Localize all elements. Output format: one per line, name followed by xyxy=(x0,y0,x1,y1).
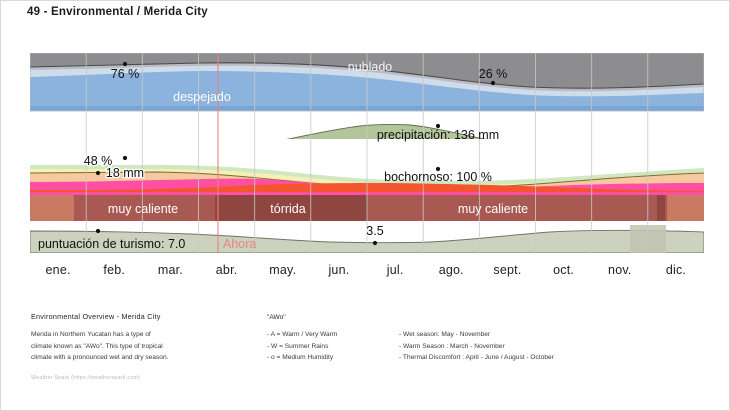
season-item-warm: - Warm Season : March - November xyxy=(399,341,554,353)
month-tick-mar: mar. xyxy=(142,263,198,285)
label-precip-left: 18 mm xyxy=(106,166,144,180)
label-nublado: nublado xyxy=(348,60,393,74)
season-item-thermal: - Thermal Discomfort : April - June / Au… xyxy=(399,352,554,364)
climate-code-item-a: - A = Warm / Very Warm xyxy=(267,329,337,341)
label-cloud-right: 26 % xyxy=(479,67,508,81)
month-tick-nov: nov. xyxy=(592,263,648,285)
label-temp-right: muy caliente xyxy=(458,202,528,216)
label-humidity-peak: bochornoso: 100 % xyxy=(384,170,492,184)
temp-hot-band-right xyxy=(667,195,704,221)
label-tourism-left: puntuación de turismo: 7.0 xyxy=(38,237,185,251)
climate-code-title: "AWo" xyxy=(267,312,286,324)
climate-code-item-w: - W = Summer Rains xyxy=(267,341,337,353)
screenshot-frame: 49 - Environmental / Merida City xyxy=(0,0,730,411)
label-temp-left: muy caliente xyxy=(108,202,178,216)
label-now-marker: Ahora xyxy=(223,237,256,251)
month-tick-ago: ago. xyxy=(423,263,479,285)
month-tick-oct: oct. xyxy=(536,263,592,285)
climate-code-list: - A = Warm / Very Warm - W = Summer Rain… xyxy=(267,329,337,364)
overview-title: Environmental Overview - Merida City xyxy=(31,311,161,324)
month-tick-dic: dic. xyxy=(648,263,704,285)
label-tourism-low: 3.5 xyxy=(366,224,383,238)
label-cloud-left: 76 % xyxy=(111,67,140,81)
marker-cloud-left xyxy=(123,62,127,66)
climate-code-item-o: - o = Medium Humidity xyxy=(267,352,337,364)
overview-body-line-3: climate with a pronounced wet and dry se… xyxy=(31,352,246,364)
environmental-chart: 76 % 26 % nublado despejado 18 mm precip… xyxy=(30,53,704,253)
chart-svg: 76 % 26 % nublado despejado 18 mm precip… xyxy=(30,53,704,253)
overview-body: Merida in Northern Yucatan has a type of… xyxy=(31,329,246,364)
overview-body-line-2: climate known as "AWo". This type of tro… xyxy=(31,341,246,353)
month-tick-abr: abr. xyxy=(199,263,255,285)
season-summary-list: - Wet season: May - November - Warm Seas… xyxy=(399,329,554,364)
month-tick-may: may. xyxy=(255,263,311,285)
source-credit[interactable]: Weather Spark (https://weatherspark.com) xyxy=(31,374,140,383)
label-temp-mid: tórrida xyxy=(270,202,305,216)
overview-body-line-1: Merida in Northern Yucatan has a type of xyxy=(31,329,246,341)
marker-tourism-left xyxy=(96,229,100,233)
label-humidity-left: 48 % xyxy=(84,154,113,168)
label-precip-peak: precipitación: 136 mm xyxy=(377,128,499,142)
marker-cloud-right xyxy=(491,81,495,85)
marker-tourism-low xyxy=(373,241,377,245)
page-title: 49 - Environmental / Merida City xyxy=(27,6,208,18)
month-tick-feb: feb. xyxy=(86,263,142,285)
label-despejado: despejado xyxy=(173,90,231,104)
marker-precip-left xyxy=(123,156,127,160)
marker-humidity-left xyxy=(96,171,100,175)
month-tick-jul: jul. xyxy=(367,263,423,285)
month-tick-sept: sept. xyxy=(479,263,535,285)
temp-sweltering-sliver xyxy=(657,195,665,221)
temp-hot-band-left xyxy=(30,195,74,221)
month-axis: ene. feb. mar. abr. may. jun. jul. ago. … xyxy=(30,263,704,285)
month-tick-jun: jun. xyxy=(311,263,367,285)
season-item-wet: - Wet season: May - November xyxy=(399,329,554,341)
month-tick-ene: ene. xyxy=(30,263,86,285)
